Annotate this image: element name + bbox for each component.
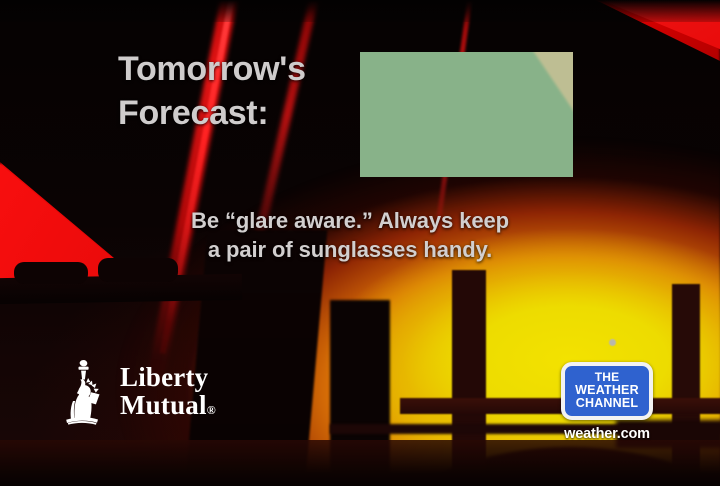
guardrail-post-a — [14, 262, 88, 284]
liberty-mutual-wordmark-text: Liberty Mutual — [120, 362, 208, 420]
twc-line-weather: WEATHER — [569, 384, 645, 397]
liberty-mutual-logo[interactable]: Liberty Mutual® — [58, 358, 238, 426]
lens-flare-dot — [609, 339, 616, 346]
foreground-ground — [0, 440, 720, 486]
overpass-pillar-mid — [330, 300, 390, 486]
overpass-ramp-arc-secondary — [287, 439, 720, 486]
weather-channel-plate: THE WEATHER CHANNEL — [561, 362, 653, 420]
advertisement-banner: Tomorrow's Forecast: Be “glare aware.” A… — [0, 0, 720, 486]
sky-top-shade — [0, 0, 720, 22]
forecast-graphic-box — [360, 52, 573, 177]
weather-com-url[interactable]: weather.com — [546, 426, 668, 442]
tagline-text: Be “glare aware.” Always keep a pair of … — [60, 206, 640, 264]
twc-line-the: THE — [569, 371, 645, 384]
overpass-pillar-right-a — [452, 270, 486, 486]
forecast-graphic-diagonal-band — [492, 52, 573, 177]
liberty-mutual-wordmark: Liberty Mutual® — [120, 364, 216, 419]
weather-channel-logo[interactable]: THE WEATHER CHANNEL weather.com — [546, 362, 668, 442]
registered-trademark-icon: ® — [207, 403, 216, 417]
guardrail-silhouette — [0, 274, 242, 304]
twc-line-channel: CHANNEL — [569, 397, 645, 410]
overpass-pillar-right-b — [672, 284, 700, 486]
headline-text: Tomorrow's Forecast: — [118, 48, 368, 135]
statue-of-liberty-icon — [58, 359, 112, 425]
